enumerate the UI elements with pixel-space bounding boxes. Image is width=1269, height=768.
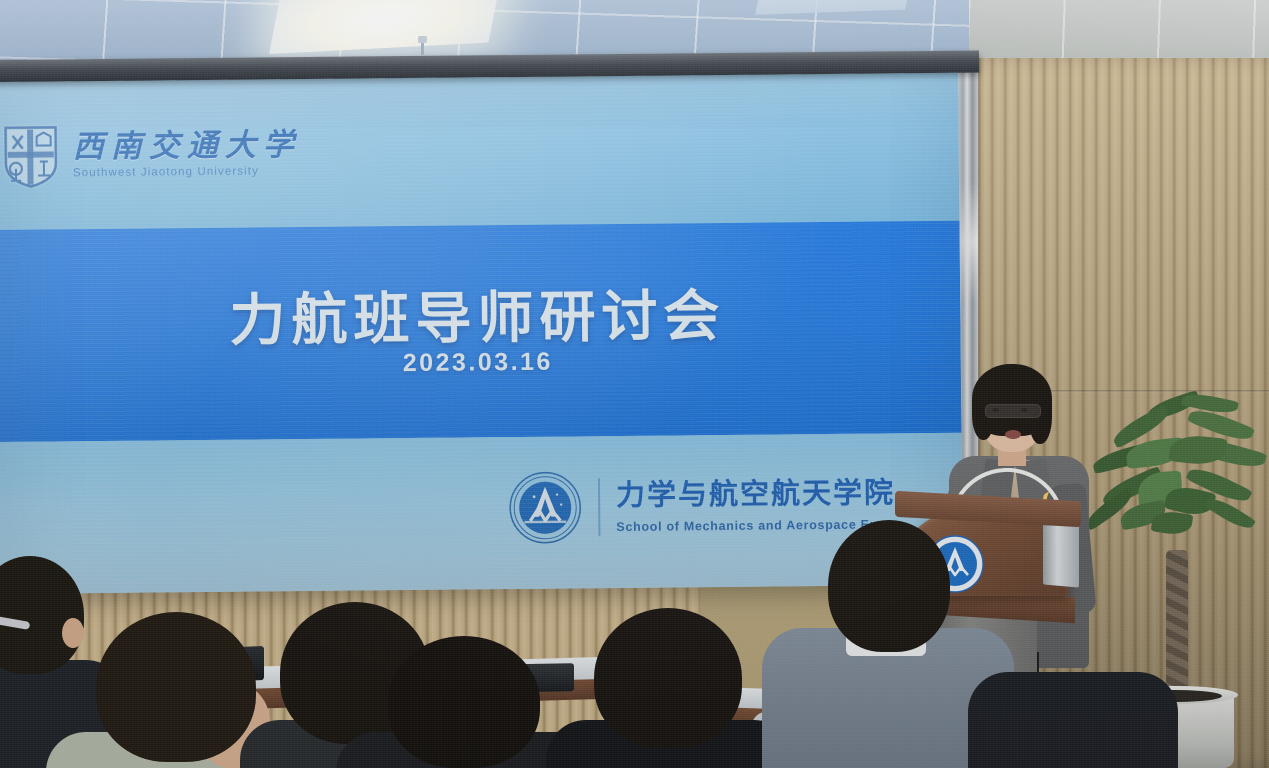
projection-screen: 西南交通大学 Southwest Jiaotong University 力航班…: [0, 63, 963, 594]
audience-6-head: [828, 520, 950, 652]
university-names: 西南交通大学 Southwest Jiaotong University: [73, 130, 301, 180]
school-emblem-icon: 1958: [508, 470, 583, 545]
presenter-mouth: [1005, 430, 1021, 439]
emblem-year: 1958: [537, 526, 554, 535]
university-name-cn: 西南交通大学: [73, 130, 301, 163]
audience-7-shoulders: [968, 672, 1178, 768]
audience-member-4: [360, 636, 570, 768]
audience-member-5: [572, 608, 762, 768]
conference-room-scene: 西南交通大学 Southwest Jiaotong University 力航班…: [0, 0, 1269, 768]
school-name-cn: 力学与航空航天学院: [616, 477, 895, 512]
audience-5-head: [594, 608, 742, 748]
university-name-en: Southwest Jiaotong University: [73, 166, 301, 180]
school-divider: [598, 478, 601, 536]
audience-2-head: [96, 612, 256, 762]
university-lockup: 西南交通大学 Southwest Jiaotong University: [2, 121, 301, 190]
audience-member-7: [968, 672, 1178, 768]
presenter-eye-left: [992, 408, 999, 412]
plant-foliage: [1086, 392, 1269, 572]
university-shield-icon: [2, 123, 59, 190]
audience-4-head: [388, 636, 540, 768]
sprinkler-head-icon: [418, 36, 427, 43]
presenter-eye-right: [1021, 408, 1028, 412]
